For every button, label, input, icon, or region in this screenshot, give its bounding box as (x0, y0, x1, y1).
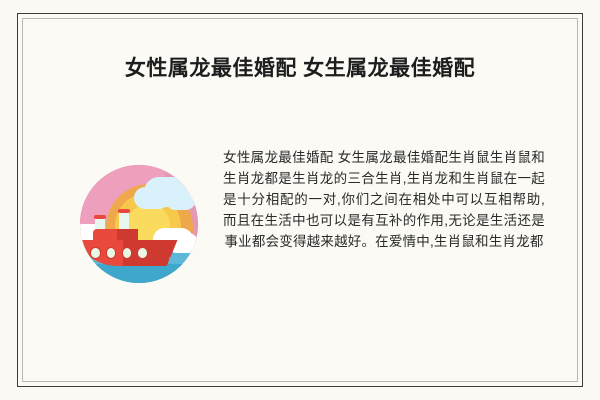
article-body: 女性属龙最佳婚配 女生属龙最佳婚配生肖鼠生肖鼠和生肖龙都是生肖龙的三合生肖,生肖… (223, 147, 545, 252)
page-frame-outer: 女性属龙最佳婚配 女生属龙最佳婚配 (17, 13, 583, 387)
content-row: 女性属龙最佳婚配 女生属龙最佳婚配生肖鼠生肖鼠和生肖龙都是生肖龙的三合生肖,生肖… (59, 147, 551, 283)
ship-porthole-4 (137, 247, 147, 259)
article-text-cell: 女性属龙最佳婚配 女生属龙最佳婚配生肖鼠生肖鼠和生肖龙都是生肖龙的三合生肖,生肖… (219, 147, 551, 252)
ship-porthole-1 (90, 247, 100, 259)
illustration-cell (59, 147, 219, 283)
ship-funnel-cap-b (118, 209, 130, 213)
title-container: 女性属龙最佳婚配 女生属龙最佳婚配 (23, 55, 577, 82)
page-title: 女性属龙最佳婚配 女生属龙最佳婚配 (125, 55, 475, 82)
ship-funnel-b (119, 210, 129, 230)
page-frame-inner: 女性属龙最佳婚配 女生属龙最佳婚配 (22, 18, 578, 382)
ship-funnel-cap-a (94, 215, 106, 219)
cloud-icon-top-c (165, 189, 196, 210)
ship-icon (82, 215, 169, 272)
ship-at-sunset-illustration (80, 165, 198, 283)
page-root: 女性属龙最佳婚配 女生属龙最佳婚配 (0, 0, 600, 400)
